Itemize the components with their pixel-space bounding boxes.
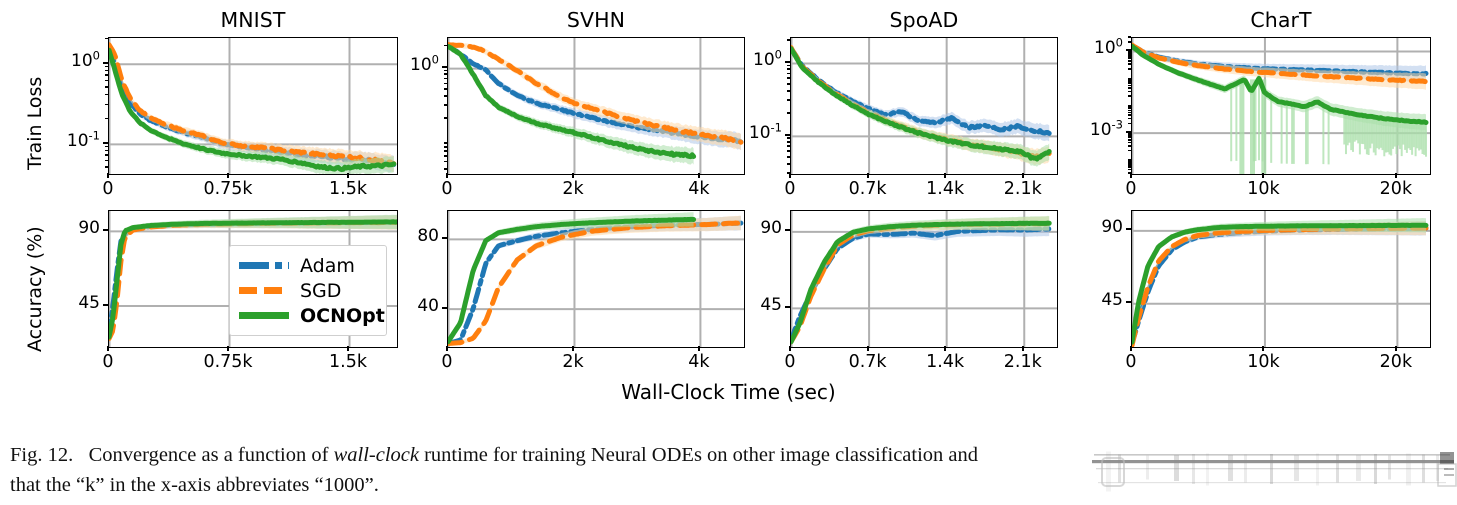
- panel-title-mnist: MNIST: [108, 8, 398, 32]
- ytick-minor-mark: [105, 66, 108, 68]
- figure-caption: Fig. 12. Convergence as a function of wa…: [0, 418, 1457, 505]
- ytick-mark: [785, 61, 790, 63]
- xtick-mark: [944, 346, 946, 351]
- ytick-minor-mark: [1128, 63, 1131, 65]
- xtick-label: 2k: [533, 179, 613, 199]
- ytick-label: 10-1: [712, 123, 782, 143]
- ytick-label: 10-1: [30, 131, 100, 151]
- legend-label-sgd: SGD: [300, 280, 341, 302]
- axes-accuracy-chart: [1131, 210, 1431, 348]
- xtick-label: 0: [68, 352, 148, 372]
- ytick-minor-mark: [1128, 55, 1131, 57]
- caption-line-2: that the “k” in the x-axis abbreviates “…: [10, 470, 379, 500]
- ytick-minor-mark: [1128, 123, 1131, 125]
- xtick-mark: [446, 346, 448, 351]
- xtick-label: 0: [407, 179, 487, 199]
- legend-swatch-adam: [238, 253, 290, 278]
- caption-figure-number: Fig. 12.: [10, 444, 73, 466]
- legend-label-ocnopt: OCNOpt: [300, 305, 385, 327]
- xtick-mark: [572, 173, 574, 178]
- ytick-minor-mark: [787, 145, 790, 147]
- ytick-minor-mark: [444, 142, 447, 144]
- xtick-mark: [1395, 346, 1397, 351]
- caption-text-a: Convergence as a function of: [89, 444, 334, 466]
- ytick-minor-mark: [1128, 161, 1131, 163]
- xtick-mark: [867, 346, 869, 351]
- legend-item-ocnopt: OCNOpt: [238, 303, 376, 328]
- ytick-mark: [103, 142, 108, 144]
- ytick-minor-mark: [787, 150, 790, 152]
- xtick-label: 1.4k: [905, 352, 985, 372]
- ytick-label: 80: [369, 226, 439, 246]
- panel-title-spoad: SpoAD: [790, 8, 1058, 32]
- xtick-label: 4k: [659, 179, 739, 199]
- row-label-train-loss: Train Loss: [24, 77, 46, 170]
- ytick-minor-mark: [105, 146, 108, 148]
- ytick-label: 100: [1053, 38, 1123, 58]
- ytick-label: 90: [712, 218, 782, 238]
- ytick-minor-mark: [1128, 53, 1131, 55]
- ytick-mark: [785, 229, 790, 231]
- ytick-label: 100: [712, 50, 782, 70]
- axes-accuracy-svhn: [447, 210, 745, 348]
- ytick-minor-mark: [105, 166, 108, 168]
- ytick-minor-mark: [787, 68, 790, 70]
- ytick-minor-mark: [1128, 139, 1131, 141]
- ytick-minor-mark: [444, 83, 447, 85]
- caption-text-b: runtime for training Neural ODEs on othe…: [419, 444, 978, 466]
- ytick-minor-mark: [105, 150, 108, 152]
- ytick-minor-mark: [787, 65, 790, 67]
- xtick-label: 1.5k: [308, 179, 388, 199]
- ytick-minor-mark: [105, 154, 108, 156]
- xtick-label: 1.4k: [905, 179, 985, 199]
- panel-title-chart: CharT: [1131, 8, 1431, 32]
- ytick-minor-mark: [1128, 166, 1131, 168]
- ytick-minor-mark: [1128, 108, 1131, 110]
- ytick-minor-mark: [1128, 79, 1131, 81]
- ytick-minor-mark: [1128, 145, 1131, 147]
- ytick-minor-mark: [1128, 68, 1131, 70]
- xtick-mark: [107, 173, 109, 178]
- ytick-minor-mark: [1128, 91, 1131, 93]
- xtick-label: 1.5k: [308, 352, 388, 372]
- ytick-label: 45: [30, 293, 100, 313]
- ytick-minor-mark: [105, 74, 108, 76]
- figure-container: Train Loss Accuracy (%) MNIST SVHN SpoAD…: [0, 0, 1457, 415]
- ytick-minor-mark: [1128, 135, 1131, 137]
- xtick-mark: [227, 173, 229, 178]
- ytick-minor-mark: [1128, 114, 1131, 116]
- axes-train-loss-spoad: [790, 37, 1058, 175]
- ytick-mark: [103, 229, 108, 231]
- ytick-minor-mark: [444, 146, 447, 148]
- ytick-minor-mark: [787, 77, 790, 79]
- ytick-minor-mark: [787, 163, 790, 165]
- ytick-minor-mark: [1128, 132, 1131, 134]
- xtick-label: 2.1k: [983, 352, 1063, 372]
- xtick-mark: [1395, 173, 1397, 178]
- ytick-minor-mark: [444, 78, 447, 80]
- ytick-minor-mark: [1128, 82, 1131, 84]
- ytick-label: 90: [30, 218, 100, 238]
- ytick-minor-mark: [444, 70, 447, 72]
- xtick-label: 0.7k: [828, 352, 908, 372]
- ytick-minor-mark: [787, 99, 790, 101]
- xtick-mark: [572, 346, 574, 351]
- xtick-label: 10k: [1223, 179, 1303, 199]
- ytick-minor-mark: [444, 88, 447, 90]
- ytick-minor-mark: [105, 104, 108, 106]
- xtick-mark: [1262, 173, 1264, 178]
- xtick-mark: [347, 173, 349, 178]
- ytick-mark: [442, 307, 447, 309]
- ytick-label: 100: [369, 55, 439, 75]
- ytick-minor-mark: [444, 168, 447, 170]
- ytick-minor-mark: [787, 73, 790, 75]
- ytick-minor-mark: [444, 155, 447, 157]
- ytick-minor-mark: [105, 70, 108, 72]
- xtick-mark: [107, 346, 109, 351]
- ytick-minor-mark: [1128, 60, 1131, 62]
- xtick-mark: [867, 173, 869, 178]
- ytick-minor-mark: [1128, 137, 1131, 139]
- legend-swatch-sgd: [238, 278, 290, 303]
- axes-train-loss-chart: [1131, 37, 1431, 175]
- xtick-label: 2.1k: [983, 179, 1063, 199]
- caption-italic-wallclock: wall-clock: [334, 444, 419, 466]
- ytick-minor-mark: [787, 137, 790, 139]
- xaxis-title: Wall-Clock Time (sec): [0, 380, 1457, 404]
- axes-train-loss-svhn: [447, 37, 745, 175]
- panel-title-svhn: SVHN: [447, 8, 745, 32]
- xtick-mark: [944, 173, 946, 178]
- xtick-label: 0.75k: [188, 352, 268, 372]
- ytick-mark: [442, 237, 447, 239]
- xtick-mark: [446, 173, 448, 178]
- ytick-label: 100: [30, 51, 100, 71]
- ytick-minor-mark: [1128, 162, 1131, 164]
- ytick-minor-mark: [1128, 52, 1131, 54]
- ytick-minor-mark: [444, 95, 447, 97]
- xtick-mark: [1130, 346, 1132, 351]
- xtick-label: 2k: [533, 352, 613, 372]
- xtick-label: 0: [750, 179, 830, 199]
- ytick-label: 45: [712, 295, 782, 315]
- xtick-label: 0.7k: [828, 179, 908, 199]
- ytick-minor-mark: [787, 172, 790, 174]
- xtick-label: 0: [407, 352, 487, 372]
- ytick-mark: [785, 306, 790, 308]
- xtick-mark: [789, 173, 791, 178]
- legend-label-adam: Adam: [300, 255, 355, 277]
- xtick-mark: [698, 173, 700, 178]
- ytick-mark: [103, 304, 108, 306]
- xtick-label: 10k: [1223, 352, 1303, 372]
- ytick-minor-mark: [105, 94, 108, 96]
- ytick-minor-mark: [787, 141, 790, 143]
- legend-item-sgd: SGD: [238, 278, 376, 303]
- xtick-mark: [1022, 346, 1024, 351]
- ytick-label: 45: [1053, 290, 1123, 310]
- ytick-minor-mark: [105, 160, 108, 162]
- ytick-minor-mark: [1128, 87, 1131, 89]
- ytick-minor-mark: [1128, 169, 1131, 171]
- xtick-label: 20k: [1356, 179, 1436, 199]
- ytick-minor-mark: [1128, 159, 1131, 161]
- ytick-minor-mark: [1128, 133, 1131, 135]
- ytick-minor-mark: [1128, 112, 1131, 114]
- ytick-minor-mark: [1128, 142, 1131, 144]
- ytick-mark: [442, 66, 447, 68]
- ytick-label: 10-3: [1053, 120, 1123, 140]
- ytick-mark: [103, 62, 108, 64]
- ytick-minor-mark: [444, 104, 447, 106]
- ytick-minor-mark: [444, 150, 447, 152]
- ytick-minor-mark: [1128, 110, 1131, 112]
- ytick-mark: [785, 134, 790, 136]
- axes-train-loss-mnist: [108, 37, 398, 175]
- xtick-label: 0: [68, 179, 148, 199]
- row-label-accuracy: Accuracy (%): [24, 226, 46, 352]
- ytick-minor-mark: [1128, 57, 1131, 59]
- ytick-minor-mark: [787, 156, 790, 158]
- ytick-minor-mark: [1128, 150, 1131, 152]
- xtick-mark: [789, 346, 791, 351]
- ytick-minor-mark: [787, 83, 790, 85]
- xtick-mark: [227, 346, 229, 351]
- ytick-mark: [1126, 228, 1131, 230]
- xtick-label: 0: [1091, 179, 1171, 199]
- ytick-minor-mark: [1128, 164, 1131, 166]
- xtick-mark: [1022, 173, 1024, 178]
- ytick-minor-mark: [1128, 50, 1131, 52]
- ytick-minor-mark: [1128, 41, 1131, 43]
- ytick-minor-mark: [1128, 172, 1131, 174]
- ytick-minor-mark: [1128, 85, 1131, 87]
- ytick-minor-mark: [444, 73, 447, 75]
- xtick-label: 0: [1091, 352, 1171, 372]
- xtick-label: 0.75k: [188, 179, 268, 199]
- ytick-label: 90: [1053, 217, 1123, 237]
- legend-swatch-ocnopt: [238, 303, 290, 328]
- ytick-minor-mark: [444, 45, 447, 47]
- ytick-minor-mark: [1128, 78, 1131, 80]
- ytick-minor-mark: [787, 90, 790, 92]
- axes-accuracy-spoad: [790, 210, 1058, 348]
- ytick-minor-mark: [105, 80, 108, 82]
- ytick-minor-mark: [1128, 105, 1131, 107]
- legend: Adam SGD OCNOpt: [229, 245, 387, 336]
- ytick-mark: [1126, 301, 1131, 303]
- ytick-minor-mark: [105, 86, 108, 88]
- ytick-minor-mark: [444, 117, 447, 119]
- ytick-minor-mark: [105, 38, 108, 40]
- ytick-minor-mark: [105, 118, 108, 120]
- xtick-label: 0: [750, 352, 830, 372]
- ytick-minor-mark: [1128, 95, 1131, 97]
- ytick-minor-mark: [787, 112, 790, 114]
- ytick-minor-mark: [1128, 106, 1131, 108]
- ytick-minor-mark: [444, 161, 447, 163]
- xtick-label: 20k: [1356, 352, 1436, 372]
- ytick-minor-mark: [787, 39, 790, 41]
- xtick-mark: [698, 346, 700, 351]
- xtick-mark: [1130, 173, 1132, 178]
- ytick-minor-mark: [1128, 36, 1131, 38]
- ytick-minor-mark: [1128, 81, 1131, 83]
- legend-item-adam: Adam: [238, 253, 376, 278]
- xtick-label: 4k: [659, 352, 739, 372]
- xtick-mark: [1262, 346, 1264, 351]
- ytick-minor-mark: [1128, 118, 1131, 120]
- xtick-mark: [347, 346, 349, 351]
